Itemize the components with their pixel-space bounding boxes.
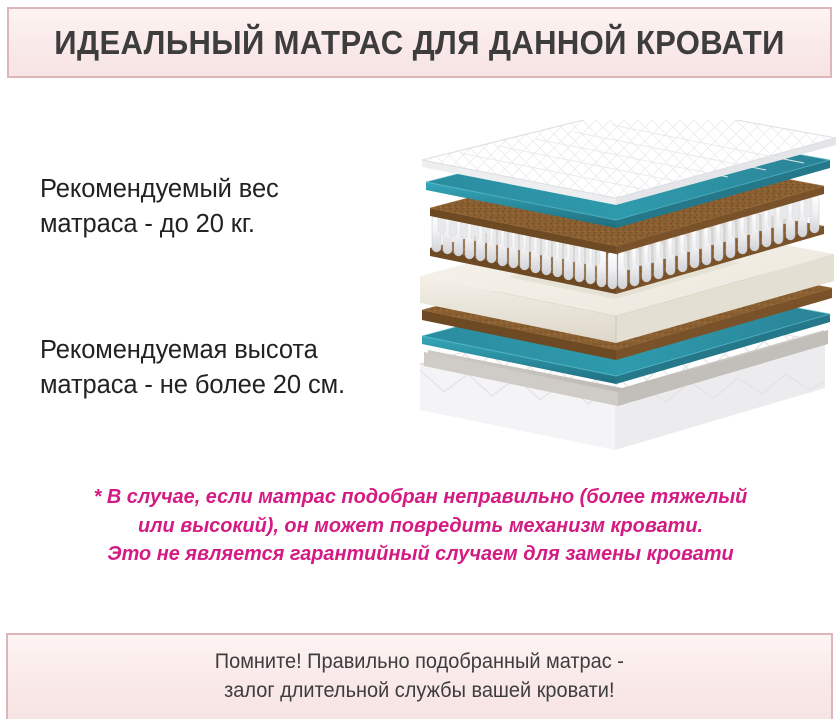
recommended-height-text: Рекомендуемая высота матраса - не более … bbox=[40, 333, 450, 403]
footer-text: Помните! Правильно подобранный матрас - … bbox=[215, 648, 624, 706]
recommended-weight-text: Рекомендуемый вес матраса - до 20 кг. bbox=[40, 172, 430, 242]
page-title: идеальный матрас для данной кровати bbox=[54, 26, 784, 59]
header-banner: идеальный матрас для данной кровати bbox=[7, 7, 832, 78]
mattress-illustration bbox=[400, 120, 839, 450]
warning-note: * В случае, если матрас подобран неправи… bbox=[40, 483, 801, 569]
footer-banner: Помните! Правильно подобранный матрас - … bbox=[6, 633, 833, 719]
